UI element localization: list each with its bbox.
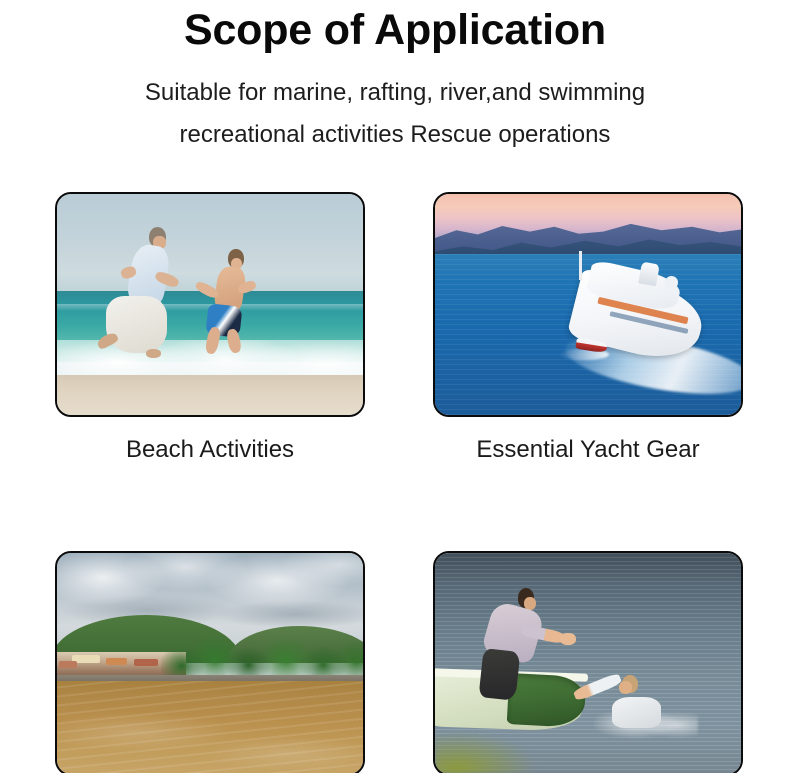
flood-prevention-thumbnail[interactable] bbox=[55, 551, 365, 773]
page-title: Scope of Application bbox=[0, 2, 790, 58]
card-flood-prevention[interactable]: Flood Prevention bbox=[55, 551, 365, 773]
header: Scope of Application Suitable for marine… bbox=[0, 0, 790, 156]
swimmer-shirt bbox=[612, 697, 661, 728]
application-card-grid: Beach Activities bbox=[55, 192, 743, 773]
yacht-scene bbox=[435, 194, 741, 415]
card-essential-yacht-gear[interactable]: Essential Yacht Gear bbox=[433, 192, 743, 465]
beach-activities-thumbnail[interactable] bbox=[55, 192, 365, 417]
building-roof bbox=[59, 661, 77, 668]
subtitle-line-1: Suitable for marine, rafting, river,and … bbox=[0, 72, 790, 114]
card-row-1: Beach Activities bbox=[55, 192, 743, 465]
building-roof bbox=[134, 659, 158, 666]
man-foot-front bbox=[146, 349, 161, 358]
rescuer-hand bbox=[560, 633, 575, 645]
building-roof bbox=[106, 658, 127, 666]
beach-scene bbox=[57, 194, 363, 415]
essential-yacht-gear-thumbnail[interactable] bbox=[433, 192, 743, 417]
page-subtitle: Suitable for marine, rafting, river,and … bbox=[0, 72, 790, 156]
man-trousers bbox=[106, 296, 167, 353]
rescue-scene bbox=[435, 553, 741, 773]
card-caption: Beach Activities bbox=[55, 435, 365, 465]
sky bbox=[57, 194, 363, 293]
ship-mast bbox=[579, 251, 583, 280]
rescuer-trousers bbox=[478, 648, 520, 700]
subtitle-line-2: recreational activities Rescue operation… bbox=[0, 114, 790, 156]
card-rescue-operations[interactable]: Rescue Operations bbox=[433, 551, 743, 773]
flood-scene bbox=[57, 553, 363, 773]
scope-of-application-page: Scope of Application Suitable for marine… bbox=[0, 0, 790, 773]
ship-radar-dome bbox=[665, 276, 679, 289]
muddy-floodwater bbox=[57, 681, 363, 773]
card-caption: Essential Yacht Gear bbox=[433, 435, 743, 465]
rescue-operations-thumbnail[interactable] bbox=[433, 551, 743, 773]
card-beach-activities[interactable]: Beach Activities bbox=[55, 192, 365, 465]
sand bbox=[57, 375, 363, 415]
card-row-2: Flood Prevention bbox=[55, 551, 743, 773]
